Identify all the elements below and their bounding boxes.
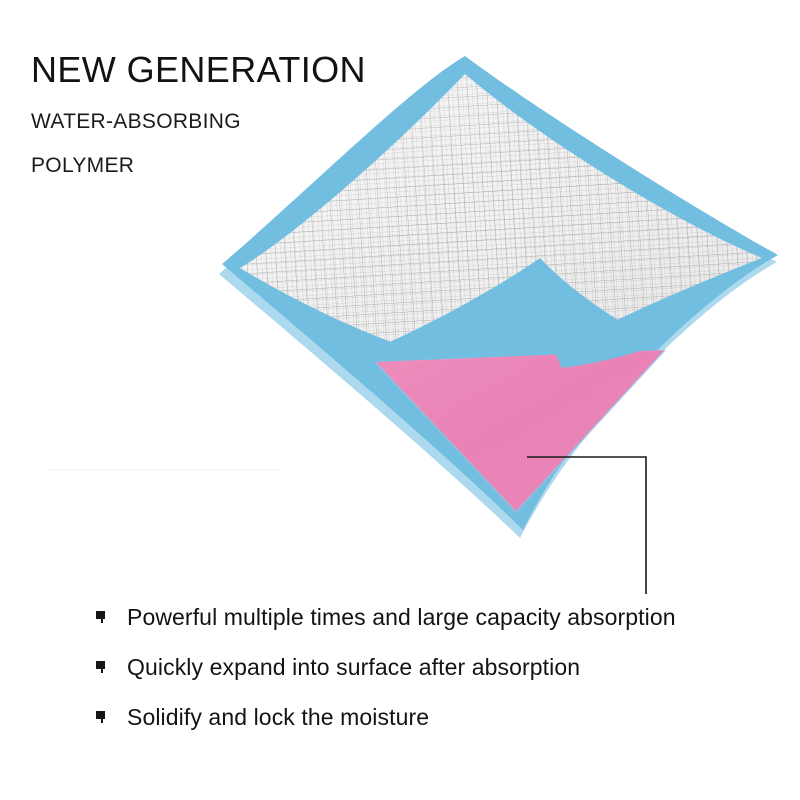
feature-text: Powerful multiple times and large capaci… (127, 602, 676, 632)
glitter-polymer-core (360, 340, 680, 530)
feature-text: Solidify and lock the moisture (127, 702, 429, 732)
square-bullet-icon (96, 711, 106, 722)
subtitle-line-2: POLYMER (31, 144, 451, 188)
subtitle-line-1: WATER-ABSORBING (31, 100, 451, 144)
glitter-core-edge (375, 350, 665, 512)
square-bullet-icon (96, 661, 106, 672)
feature-text: Quickly expand into surface after absorp… (127, 652, 580, 682)
list-item: Quickly expand into surface after absorp… (96, 652, 786, 684)
headings-block: NEW GENERATION WATER-ABSORBING POLYMER (31, 48, 451, 188)
list-item: Powerful multiple times and large capaci… (96, 602, 786, 634)
list-item: Solidify and lock the moisture (96, 702, 786, 734)
glitter-leader-line (527, 457, 646, 594)
faint-divider (47, 469, 280, 470)
page-title: NEW GENERATION (31, 48, 451, 92)
product-infographic: NEW GENERATION WATER-ABSORBING POLYMER (0, 0, 800, 800)
feature-list: Powerful multiple times and large capaci… (96, 602, 786, 734)
fold-chevron (376, 258, 660, 368)
fold-chevron-shape (376, 258, 660, 368)
leader-line-path (527, 457, 646, 594)
square-bullet-icon (96, 611, 106, 622)
